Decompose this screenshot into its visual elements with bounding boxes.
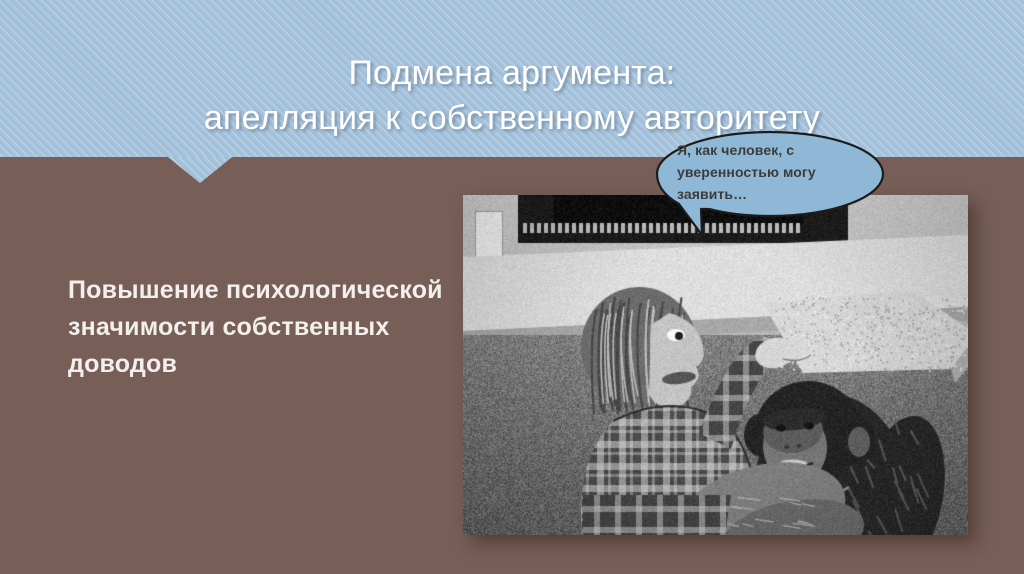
page-title: Подмена аргумента: апелляция к собственн…	[0, 51, 1024, 141]
speech-bubble: Я, как человек, с уверенностью могу заяв…	[655, 130, 885, 218]
photo-man-and-chimpanzee	[463, 195, 968, 535]
header-notch-triangle-icon	[168, 157, 232, 183]
presentation-slide: Подмена аргумента: апелляция к собственн…	[0, 0, 1024, 574]
speech-bubble-text: Я, как человек, с уверенностью могу заяв…	[677, 139, 867, 205]
photo-canvas	[463, 195, 968, 535]
body-text: Повышение психологической значимости соб…	[68, 272, 458, 383]
